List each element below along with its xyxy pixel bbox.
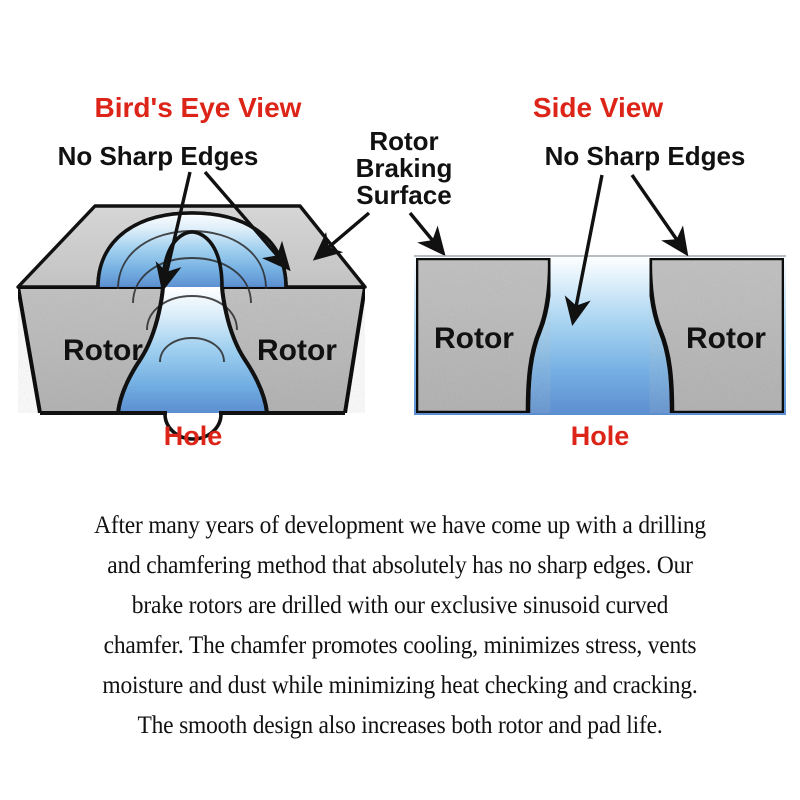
caption-line-4: chamfer. The chamfer promotes cooling, m… xyxy=(32,625,768,665)
left-hole-label: Hole xyxy=(164,421,223,451)
right-rotor-label-left: Rotor xyxy=(434,322,514,355)
caption-line-6: The smooth design also increases both ro… xyxy=(32,705,768,745)
left-view-title: Bird's Eye View xyxy=(95,92,302,123)
left-no-sharp-edges-label: No Sharp Edges xyxy=(58,141,259,171)
caption-line-5: moisture and dust while minimizing heat … xyxy=(32,665,768,705)
right-hole-label: Hole xyxy=(571,421,630,451)
page-root: Rotor Rotor Bird's Eye View No Sharp Edg… xyxy=(0,0,800,800)
right-rotor-label-right: Rotor xyxy=(686,322,766,355)
right-arrow-to-chamfer-right xyxy=(632,175,686,253)
rotor-braking-surface-line1: Rotor xyxy=(369,126,438,156)
rotor-braking-surface-label: Rotor Braking Surface xyxy=(316,126,452,258)
rotor-braking-surface-line2: Braking xyxy=(356,153,453,183)
braking-surface-arrow-right xyxy=(410,213,443,253)
caption-line-2: and chamfering method that absolutely ha… xyxy=(32,545,768,585)
right-diagram-side-view: Rotor Rotor Side View No Sharp Edges Hol… xyxy=(414,92,786,451)
caption-line-1: After many years of development we have … xyxy=(32,505,768,545)
rotor-chamfer-figure: Rotor Rotor Bird's Eye View No Sharp Edg… xyxy=(0,0,800,470)
caption-line-3: brake rotors are drilled with our exclus… xyxy=(32,585,768,625)
left-diagram-birds-eye: Rotor Rotor Bird's Eye View No Sharp Edg… xyxy=(18,92,365,451)
caption-paragraph: After many years of development we have … xyxy=(0,505,800,745)
left-rotor-label-right: Rotor xyxy=(257,334,337,367)
rotor-braking-surface-line3: Surface xyxy=(356,180,451,210)
left-rotor-label-left: Rotor xyxy=(63,334,143,367)
right-no-sharp-edges-label: No Sharp Edges xyxy=(545,141,746,171)
diagram-area: Rotor Rotor Bird's Eye View No Sharp Edg… xyxy=(0,0,800,470)
right-view-title: Side View xyxy=(533,92,663,123)
